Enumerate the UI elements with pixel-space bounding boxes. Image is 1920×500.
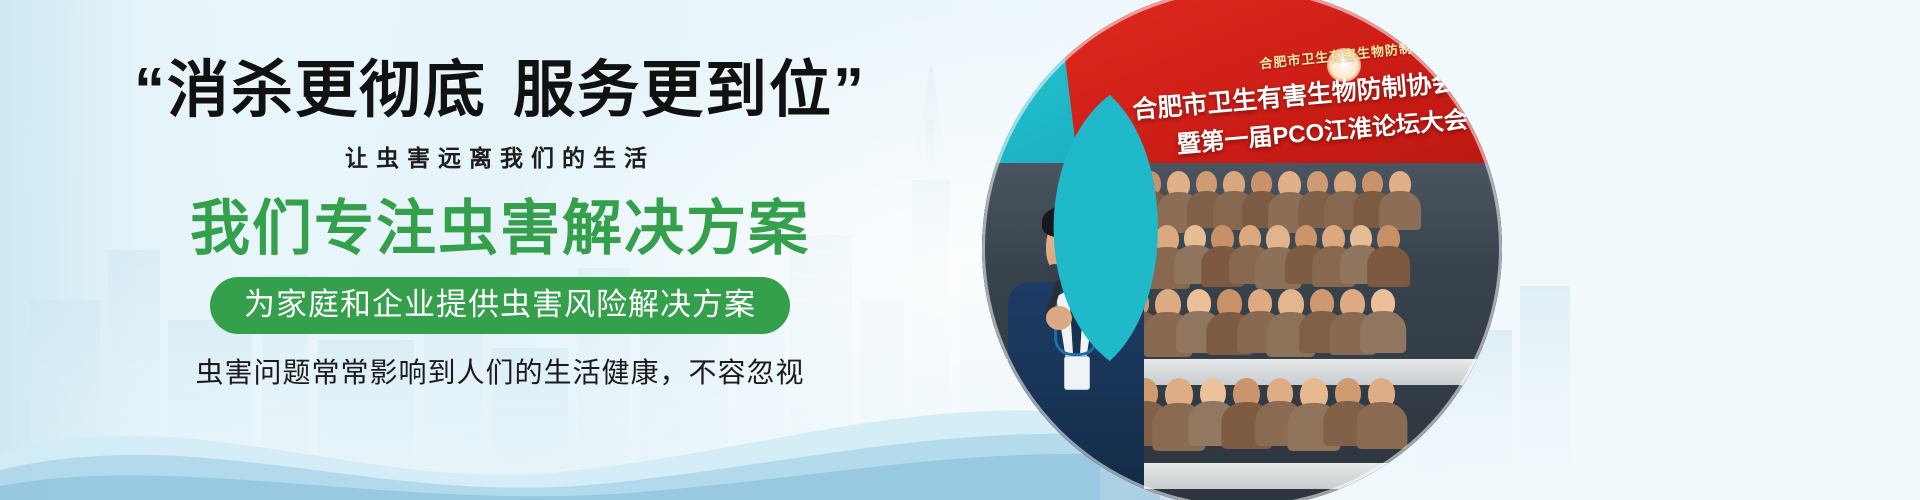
headline-part-2: 服务更到位 [513, 56, 833, 125]
green-headline: 我们专注虫害解决方案 [190, 199, 810, 259]
headline-close-quote: ” [833, 56, 866, 125]
speaker-hand [1046, 306, 1072, 330]
footer-tagline: 虫害问题常常影响到人们的生活健康，不容忽视 [195, 351, 804, 391]
solution-pill-badge[interactable]: 为家庭和企业提供虫害风险解决方案 [210, 277, 790, 334]
promo-banner: “消杀更彻底服务更到位” 让虫害远离我们的生活 我们专注虫害解决方案 为家庭和企… [0, 0, 1920, 500]
sub-headline: 让虫害远离我们的生活 [345, 139, 655, 173]
headline: “消杀更彻底服务更到位” [134, 58, 866, 123]
headline-open-quote: “ [134, 56, 167, 125]
speaker-badge [1064, 356, 1090, 390]
banner-copy: “消杀更彻底服务更到位” 让虫害远离我们的生活 我们专注虫害解决方案 为家庭和企… [0, 0, 1000, 500]
headline-part-1: 消杀更彻底 [167, 56, 487, 125]
